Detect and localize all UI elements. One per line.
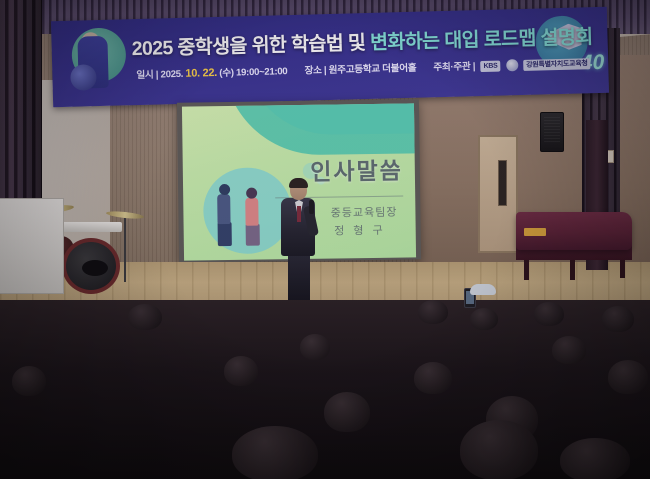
audience-head xyxy=(608,360,648,394)
banner-place-value: 원주고등학교 더불어홀 xyxy=(329,63,417,76)
partner-round-logo xyxy=(506,60,518,72)
slide-person-b-body xyxy=(245,198,258,226)
cymbal-stand-2 xyxy=(124,214,126,282)
banner-date-day: (수) 19:00~21:00 xyxy=(217,66,288,79)
audience-head xyxy=(128,304,162,330)
wall-speaker-icon xyxy=(540,112,564,152)
education-office-logo: 강원특별자치도교육청 xyxy=(523,58,591,71)
audience-head xyxy=(324,392,370,432)
banner-title-accent: 변화하는 대입 로드맵 설명회 xyxy=(370,26,593,54)
presenter-tie xyxy=(297,206,301,222)
audience-head xyxy=(560,438,630,479)
audience-head xyxy=(470,308,498,330)
slide-speaker-name: 정 형 구 xyxy=(334,222,386,239)
kbs-logo: KBS xyxy=(480,61,500,73)
slide-person-a-legs xyxy=(218,222,232,246)
banner-date-value: 2025. xyxy=(160,69,185,81)
audience-cap xyxy=(470,284,496,295)
audience-head xyxy=(552,336,586,364)
audience-head xyxy=(224,356,258,386)
banner-title: 2025 중학생을 위한 학습법 및 변화하는 대입 로드맵 설명회 xyxy=(131,20,592,61)
audience-head xyxy=(460,420,538,479)
slide-title: 인사말씀 xyxy=(310,152,403,187)
banner-date-highlight: 10. 22. xyxy=(185,67,217,80)
audience-head xyxy=(534,302,564,326)
piano-nameplate xyxy=(524,228,546,236)
event-banner: 40 2025 중학생을 위한 학습법 및 변화하는 대입 로드맵 설명회 일시… xyxy=(51,7,609,108)
banner-student-illustration xyxy=(55,23,129,103)
presenter-hair xyxy=(289,178,308,188)
audience-head xyxy=(602,306,634,332)
banner-title-main: 2025 중학생을 위한 학습법 및 xyxy=(131,32,370,60)
banner-sep-2 xyxy=(424,62,427,73)
audience-head xyxy=(232,426,318,479)
microphone-icon xyxy=(309,200,314,214)
audience-head xyxy=(300,334,330,360)
piano-leg-1 xyxy=(524,258,529,280)
banner-host-label: 주최·주관 | xyxy=(433,61,475,73)
slide-person-a-body xyxy=(217,194,230,224)
audience-head xyxy=(12,366,46,396)
banner-sep-1 xyxy=(295,66,298,77)
auditorium-photo: 40 2025 중학생을 위한 학습법 및 변화하는 대입 로드맵 설명회 일시… xyxy=(0,0,650,479)
audience-head xyxy=(414,362,452,394)
banner-place-label: 장소 | xyxy=(304,65,326,77)
slide-person-a-head xyxy=(219,184,230,195)
audience-head xyxy=(418,300,448,324)
banner-date-label: 일시 | xyxy=(136,70,158,82)
slide-person-b-legs xyxy=(246,224,260,246)
door-window xyxy=(498,160,507,206)
drum-kick xyxy=(62,238,120,294)
piano-leg-2 xyxy=(570,258,575,280)
audience-seating-area: 210 xyxy=(0,300,650,479)
slide-speaker-role: 중등교육팀장 xyxy=(331,204,398,221)
slide-wave-front xyxy=(223,103,416,156)
equipment-cabinet xyxy=(0,198,64,294)
slide-person-b-head xyxy=(246,188,257,199)
